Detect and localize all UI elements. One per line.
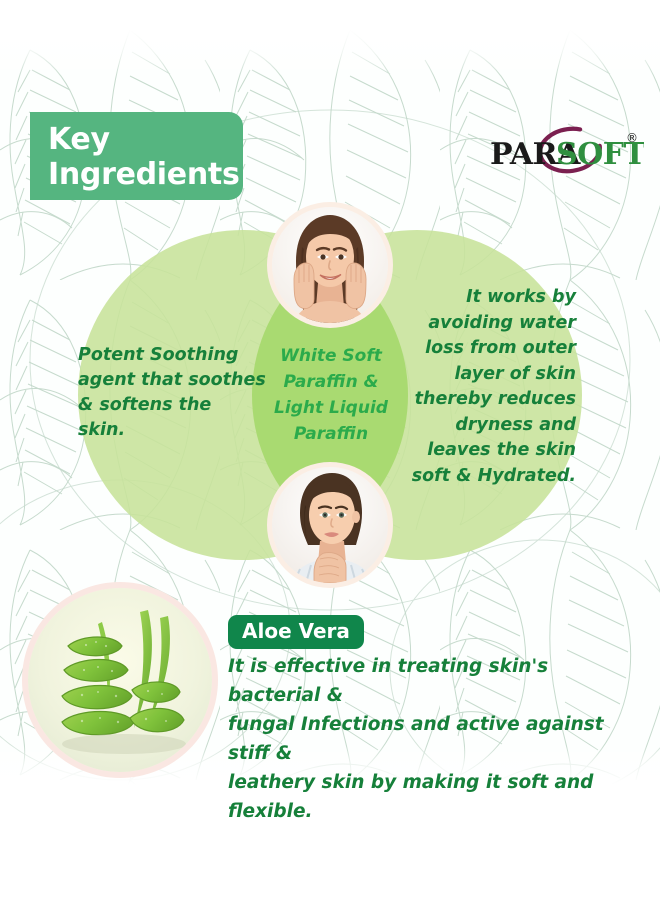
left-ingredient-description: Potent Soothing agent that soothes & sof… [78,343,278,443]
woman-hand-on-chin-illustration [272,467,388,583]
aloe-vera-slices-photo [28,588,212,772]
woman-touching-cheeks-photo [272,207,388,323]
aloe-vera-badge: Aloe Vera [228,615,364,649]
key-ingredients-infographic: Key Ingredients PARA SOFT ® Potent Sooth… [0,0,660,900]
aloe-vera-badge-label: Aloe Vera [242,619,350,643]
right-ingredient-description: It works by avoiding water loss from out… [396,285,576,489]
aloe-vera-description: It is effective in treating skin's bacte… [228,652,646,826]
woman-touching-cheeks-illustration [272,207,388,323]
key-ingredients-title-badge: Key Ingredients [30,112,243,200]
aloe-vera-illustration [28,588,212,772]
parasoft-logo: PARA SOFT ® [484,126,644,178]
page-title-line-1: Key [48,122,229,157]
parasoft-logo-icon: PARA SOFT ® [484,126,644,178]
overlap-ingredient-name: White Soft Paraffin & Light Liquid Paraf… [272,343,390,447]
registered-trademark-icon: ® [626,131,638,145]
woman-hand-on-chin-photo [272,467,388,583]
page-title-line-2: Ingredients [48,157,229,192]
